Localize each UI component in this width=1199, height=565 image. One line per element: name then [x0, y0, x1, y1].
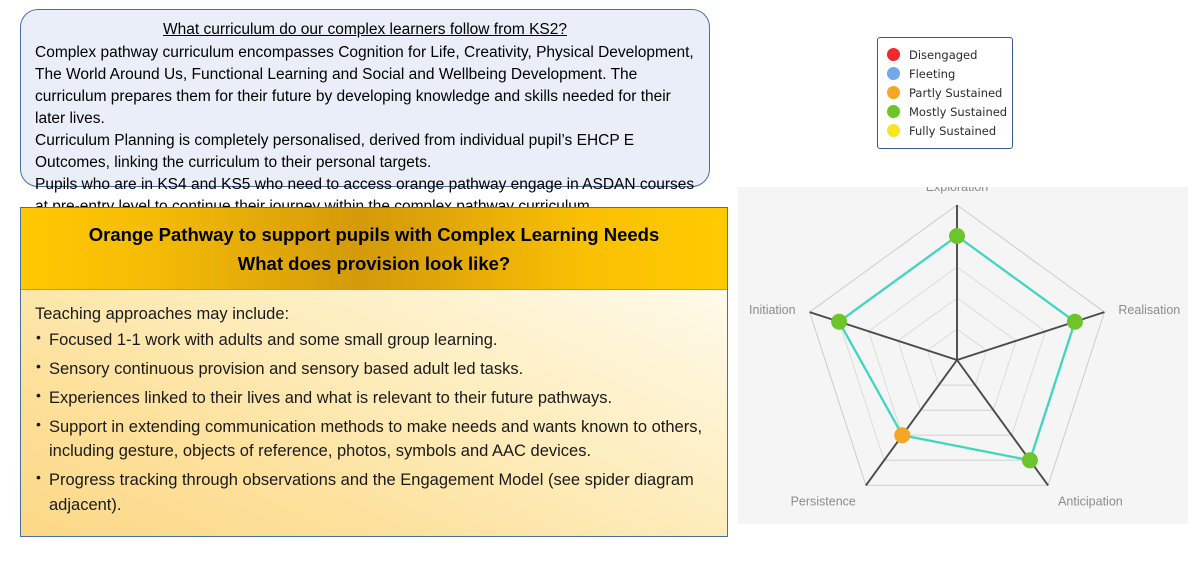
radar-axis-label: Anticipation [1058, 494, 1123, 508]
radar-axis-label: Persistence [791, 494, 856, 508]
legend-item-fleeting: Fleeting [887, 64, 1006, 83]
legend-label: Fleeting [909, 67, 955, 81]
engagement-spider-chart: ExplorationRealisationAnticipationPersis… [738, 187, 1188, 524]
legend-label: Mostly Sustained [909, 105, 1007, 119]
legend-item-fully-sustained: Fully Sustained [887, 121, 1006, 140]
list-item: Sensory continuous provision and sensory… [35, 357, 711, 381]
radar-axis-spoke [866, 360, 957, 485]
pathway-title-line-1: Orange Pathway to support pupils with Co… [89, 221, 660, 250]
legend-color-dot-icon [887, 48, 900, 61]
legend-label: Partly Sustained [909, 86, 1002, 100]
radar-axis-spokes [810, 205, 1105, 485]
list-item: Support in extending communication metho… [35, 415, 711, 463]
pathway-header: Orange Pathway to support pupils with Co… [21, 208, 727, 290]
legend-color-dot-icon [887, 86, 900, 99]
list-item: Progress tracking through observations a… [35, 468, 711, 516]
legend-item-mostly-sustained: Mostly Sustained [887, 102, 1006, 121]
radar-chart-svg: ExplorationRealisationAnticipationPersis… [738, 187, 1188, 524]
legend-color-dot-icon [887, 105, 900, 118]
radar-data-point[interactable] [831, 314, 847, 330]
legend-color-dot-icon [887, 67, 900, 80]
curriculum-heading: What curriculum do our complex learners … [35, 19, 695, 41]
curriculum-paragraph-1: Complex pathway curriculum encompasses C… [35, 42, 695, 130]
pathway-title-line-2: What does provision look like? [238, 250, 510, 279]
curriculum-paragraph-2: Curriculum Planning is completely person… [35, 130, 695, 174]
radar-axis-label: Exploration [926, 187, 989, 194]
legend-item-partly-sustained: Partly Sustained [887, 83, 1006, 102]
pathway-body: Teaching approaches may include: Focused… [21, 290, 727, 536]
list-item: Focused 1-1 work with adults and some sm… [35, 328, 711, 352]
radar-data-point[interactable] [894, 427, 910, 443]
teaching-approaches-list: Focused 1-1 work with adults and some sm… [35, 328, 711, 517]
radar-data-point[interactable] [1022, 452, 1038, 468]
engagement-legend: Disengaged Fleeting Partly Sustained Mos… [877, 37, 1013, 149]
orange-pathway-panel: Orange Pathway to support pupils with Co… [20, 207, 728, 537]
radar-data-point[interactable] [949, 228, 965, 244]
legend-item-disengaged: Disengaged [887, 45, 1006, 64]
radar-axis-label: Realisation [1118, 303, 1180, 317]
teaching-approaches-intro: Teaching approaches may include: [35, 302, 711, 326]
legend-label: Disengaged [909, 48, 977, 62]
legend-label: Fully Sustained [909, 124, 996, 138]
legend-color-dot-icon [887, 124, 900, 137]
radar-data-point[interactable] [1067, 314, 1083, 330]
list-item: Experiences linked to their lives and wh… [35, 386, 711, 410]
radar-axis-label: Initiation [749, 303, 796, 317]
curriculum-callout-box: What curriculum do our complex learners … [20, 9, 710, 187]
